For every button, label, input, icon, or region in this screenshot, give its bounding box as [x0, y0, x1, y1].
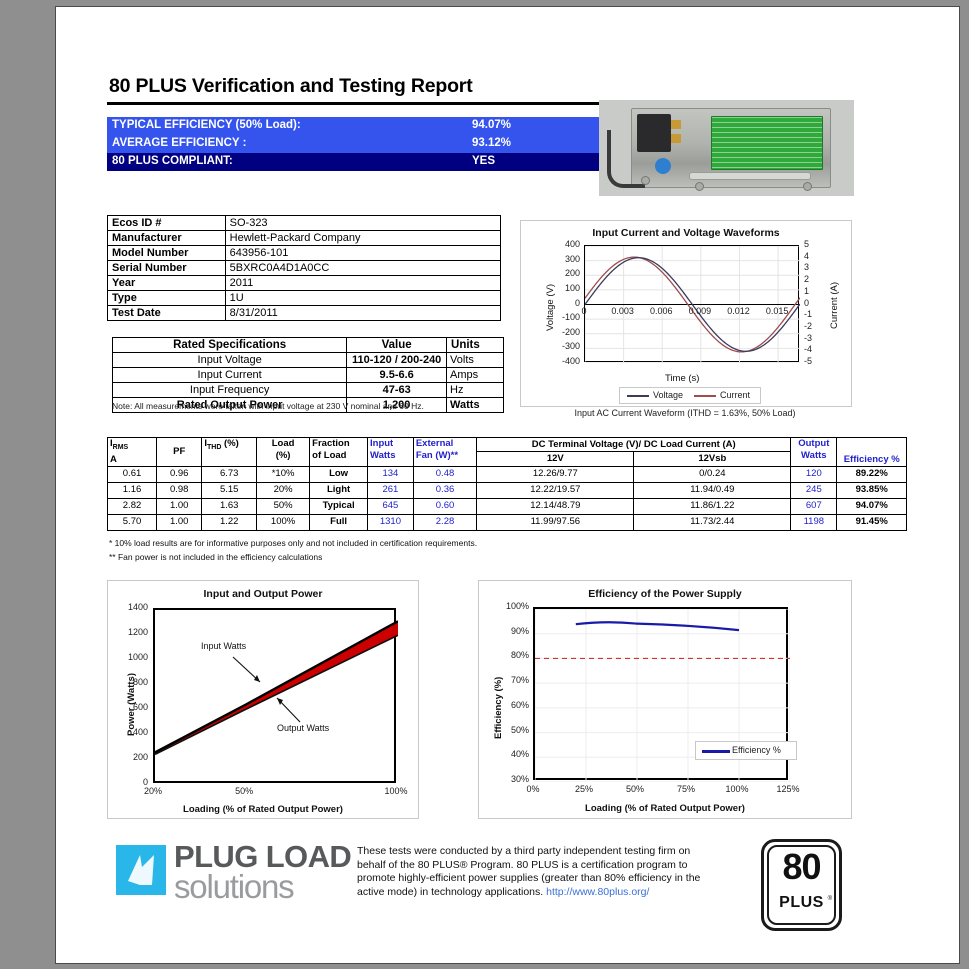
summary-label: 80 PLUS COMPLIANT:: [112, 155, 233, 167]
table-row: Input Current9.5-6.6Amps: [113, 368, 504, 383]
waveform-ytick: 400: [547, 239, 580, 249]
header-12v: 12V: [477, 452, 634, 466]
photo-psu-cable: [607, 130, 645, 188]
table-row: Year2011: [108, 276, 501, 291]
cell-efficiency: 94.07%: [837, 498, 907, 514]
spec-units: Watts: [447, 398, 504, 413]
waveform-xtick: 0.006: [643, 306, 679, 316]
cell-fan: 2.28: [413, 514, 476, 530]
cell-input-watts: 261: [368, 482, 414, 498]
photo-psu-blue-dot: [655, 158, 671, 174]
cell-pf: 0.98: [157, 482, 202, 498]
efficiency-ytick: 80%: [491, 650, 529, 660]
photo-psu-screw: [695, 182, 704, 191]
document-page: 80 PLUS Verification and Testing Report …: [0, 0, 969, 969]
chart-title: Efficiency of the Power Supply: [479, 588, 851, 600]
waveform-xtick: 0: [566, 306, 602, 316]
waveform-chart: Input Current and Voltage Waveforms 4003…: [520, 220, 852, 407]
cell-irms: 5.70: [108, 514, 157, 530]
waveform-ylabel: Voltage (V): [545, 284, 556, 331]
photo-psu-contact-top: [671, 120, 681, 129]
main-note-2: ** Fan power is not included in the effi…: [109, 552, 322, 562]
efficiency-xlabel: Loading (% of Rated Output Power): [479, 803, 851, 814]
cell-irms: 0.61: [108, 466, 157, 482]
info-value: 643956-101: [225, 246, 500, 261]
cell-input-watts: 134: [368, 466, 414, 482]
waveform-y2tick: -2: [804, 321, 820, 331]
summary-row-80plus-compliant: 80 PLUS COMPLIANT: YES: [107, 153, 601, 171]
header-output-1: Output: [798, 438, 829, 449]
header-fraction: Fractionof Load: [310, 438, 368, 467]
power-plot-area: Input Watts Output Watts: [153, 608, 396, 783]
waveform-svg: [585, 246, 800, 363]
spec-units: Hz: [447, 383, 504, 398]
legend-label-voltage: Voltage: [653, 390, 683, 400]
badge-80-text: 80: [764, 848, 839, 886]
table-header-row: Rated Specifications Value Units: [113, 338, 504, 353]
power-ytick: 1400: [114, 602, 148, 612]
cell-fan: 0.48: [413, 466, 476, 482]
cell-efficiency: 91.45%: [837, 514, 907, 530]
waveform-y2tick: -1: [804, 309, 820, 319]
spec-header-name: Rated Specifications: [113, 338, 347, 353]
cell-12vsb: 11.73/2.44: [634, 514, 791, 530]
info-value: Hewlett-Packard Company: [225, 231, 500, 246]
cell-12vsb: 11.86/1.22: [634, 498, 791, 514]
header-ithd-unit: (%): [221, 438, 238, 449]
cell-pf: 0.96: [157, 466, 202, 482]
cell-pf: 1.00: [157, 498, 202, 514]
power-svg: [155, 610, 398, 785]
spec-name: Input Frequency: [113, 383, 347, 398]
power-annotation-output: Output Watts: [277, 723, 329, 733]
info-key: Ecos ID #: [108, 216, 226, 231]
waveform-xtick: 0.003: [605, 306, 641, 316]
waveform-y2tick: 4: [804, 251, 820, 261]
spec-name: Input Current: [113, 368, 347, 383]
efficiency-xtick: 125%: [768, 784, 808, 794]
header-fraction-1: Fraction: [312, 438, 349, 449]
cell-irms: 1.16: [108, 482, 157, 498]
cell-input-watts: 1310: [368, 514, 414, 530]
table-row: Input Frequency47-63Hz: [113, 383, 504, 398]
info-value: 1U: [225, 291, 500, 306]
power-ylabel: Power (Watts): [126, 673, 137, 736]
power-ytick: 1200: [114, 627, 148, 637]
efficiency-ytick: 30%: [491, 774, 529, 784]
chart-title: Input and Output Power: [108, 588, 418, 600]
waveform-legend: Voltage Current: [619, 387, 761, 404]
cell-load: 100%: [257, 514, 310, 530]
efficiency-ytick: 100%: [491, 601, 529, 611]
cell-fan: 0.60: [413, 498, 476, 514]
cell-12vsb: 0/0.24: [634, 466, 791, 482]
waveform-ytick: -400: [547, 356, 580, 366]
header-irms-unit: A: [110, 454, 117, 465]
info-key: Manufacturer: [108, 231, 226, 246]
waveform-plot-area: [584, 245, 799, 362]
legend-label-efficiency: Efficiency %: [732, 745, 781, 755]
power-chart: Input and Output Power Input Watts Outpu…: [107, 580, 419, 819]
efficiency-legend: Efficiency %: [695, 741, 797, 760]
photo-psu-screw: [641, 176, 650, 185]
header-load-1: Load: [272, 438, 295, 449]
summary-row-average-efficiency: AVERAGE EFFICIENCY : 93.12%: [107, 135, 601, 153]
summary-panel: TYPICAL EFFICIENCY (50% Load): 94.07% AV…: [107, 117, 601, 171]
efficiency-xtick: 50%: [615, 784, 655, 794]
table-row: 5.70 1.00 1.22 100% Full 1310 2.28 11.99…: [108, 514, 907, 530]
legend-swatch-efficiency: [702, 750, 730, 753]
cell-efficiency: 89.22%: [837, 466, 907, 482]
summary-value: 93.12%: [472, 137, 511, 149]
table-row: 0.61 0.96 6.73 *10% Low 134 0.48 12.26/9…: [108, 466, 907, 482]
cell-ithd: 1.63: [202, 498, 257, 514]
table-row: Ecos ID #SO-323: [108, 216, 501, 231]
title-underline: [107, 102, 600, 105]
info-value: 8/31/2011: [225, 306, 500, 321]
power-annotation-arrows: [233, 657, 300, 722]
header-output-2: Watts: [801, 450, 827, 461]
header-12vsb: 12Vsb: [634, 452, 791, 466]
cell-ithd: 6.73: [202, 466, 257, 482]
cell-12v: 12.22/19.57: [477, 482, 634, 498]
photo-psu-vent: [689, 172, 811, 180]
info-key: Test Date: [108, 306, 226, 321]
spec-header-value: Value: [347, 338, 447, 353]
header-pf: PF: [157, 438, 202, 467]
brand-name-line1: PLUG LOAD: [174, 843, 351, 871]
cell-fan: 0.36: [413, 482, 476, 498]
power-ytick: 1000: [114, 652, 148, 662]
waveform-ytick: -300: [547, 341, 580, 351]
power-ytick: 200: [114, 752, 148, 762]
waveform-y2label: Current (A): [829, 282, 840, 329]
cell-output-watts: 607: [791, 498, 837, 514]
waveform-xtick: 0.012: [720, 306, 756, 316]
plug-load-solutions-logo: [116, 845, 166, 903]
cell-irms: 2.82: [108, 498, 157, 514]
cell-input-watts: 645: [368, 498, 414, 514]
waveform-y2tick: -4: [804, 344, 820, 354]
cell-12v: 12.26/9.77: [477, 466, 634, 482]
cell-load: 20%: [257, 482, 310, 498]
badge-trademark: ®: [828, 896, 832, 902]
cell-output-watts: 1198: [791, 514, 837, 530]
table-row: Serial Number5BXRC0A4D1A0CC: [108, 261, 501, 276]
header-external-2: Fan (W)**: [416, 450, 458, 461]
80plus-badge: 80 PLUS ®: [761, 839, 842, 931]
info-key: Model Number: [108, 246, 226, 261]
efficiency-ytick: 90%: [491, 626, 529, 636]
efficiency-ylabel: Efficiency (%): [493, 677, 504, 739]
legend-label-current: Current: [720, 390, 750, 400]
cell-pf: 1.00: [157, 514, 202, 530]
power-xtick: 20%: [133, 786, 173, 796]
info-key: Serial Number: [108, 261, 226, 276]
waveform-y2tick: 5: [804, 239, 820, 249]
spec-note: Note: All measurements were taken with i…: [112, 401, 424, 411]
power-xtick: 50%: [224, 786, 264, 796]
power-supply-photo: [599, 100, 854, 196]
power-xlabel: Loading (% of Rated Output Power): [108, 804, 418, 815]
header-load-2: (%): [276, 450, 291, 461]
header-external-fan: ExternalFan (W)**: [413, 438, 476, 467]
waveform-caption: Input AC Current Waveform (ITHD = 1.63%,…: [520, 408, 850, 418]
table-row: 2.82 1.00 1.63 50% Typical 645 0.60 12.1…: [108, 498, 907, 514]
header-fraction-2: of Load: [312, 450, 346, 461]
table-row: ManufacturerHewlett-Packard Company: [108, 231, 501, 246]
efficiency-ytick: 40%: [491, 749, 529, 759]
efficiency-xtick: 100%: [717, 784, 757, 794]
waveform-xtick: 0.015: [759, 306, 795, 316]
header-load: Load(%): [257, 438, 310, 467]
cell-load: *10%: [257, 466, 310, 482]
waveform-ytick: 200: [547, 268, 580, 278]
header-ithd-sub: THD: [207, 444, 221, 451]
legend-swatch-voltage: [627, 395, 649, 397]
waveform-xlabel: Time (s): [665, 373, 699, 384]
waveform-y2tick: 2: [804, 274, 820, 284]
waveform-ytick: 300: [547, 254, 580, 264]
header-irms-sub: RMS: [113, 444, 129, 451]
waveform-y2tick: -5: [804, 356, 820, 366]
efficiency-xtick: 0%: [513, 784, 553, 794]
header-input-1: Input: [370, 438, 393, 449]
cell-output-watts: 245: [791, 482, 837, 498]
summary-label: AVERAGE EFFICIENCY :: [112, 137, 246, 149]
power-annotation-input: Input Watts: [201, 641, 246, 651]
power-xtick: 100%: [376, 786, 416, 796]
cell-load: 50%: [257, 498, 310, 514]
spec-units: Amps: [447, 368, 504, 383]
page-title: 80 PLUS Verification and Testing Report: [109, 75, 473, 98]
efficiency-chart: Efficiency of the Power Supply 30%40%50%…: [478, 580, 852, 819]
waveform-y2tick: 0: [804, 298, 820, 308]
cell-12v: 11.99/97.56: [477, 514, 634, 530]
table-row: 1.16 0.98 5.15 20% Light 261 0.36 12.22/…: [108, 482, 907, 498]
unit-info-table: Ecos ID #SO-323 ManufacturerHewlett-Pack…: [107, 215, 501, 321]
table-header-row: IRMS A PF ITHD (%) Load(%) Fractionof Lo…: [108, 438, 907, 452]
table-row: Input Voltage110-120 / 200-240Volts: [113, 353, 504, 368]
spec-header-units: Units: [447, 338, 504, 353]
cell-12v: 12.14/48.79: [477, 498, 634, 514]
header-irms: IRMS A: [108, 438, 157, 467]
cell-fraction: Light: [310, 482, 368, 498]
report-sheet: 80 PLUS Verification and Testing Report …: [55, 6, 960, 964]
logo-zigzag-icon: [126, 851, 156, 889]
chart-title: Input Current and Voltage Waveforms: [521, 227, 851, 239]
table-row: Test Date8/31/2011: [108, 306, 501, 321]
cell-fraction: Typical: [310, 498, 368, 514]
cell-fraction: Full: [310, 514, 368, 530]
header-input-2: Watts: [370, 450, 396, 461]
waveform-y2tick: -3: [804, 333, 820, 343]
cell-ithd: 1.22: [202, 514, 257, 530]
legend-swatch-current: [694, 395, 716, 397]
info-value: 2011: [225, 276, 500, 291]
spec-value: 9.5-6.6: [347, 368, 447, 383]
header-dc-group: DC Terminal Voltage (V)/ DC Load Current…: [477, 438, 791, 452]
photo-psu-screw: [803, 182, 812, 191]
efficiency-xtick: 25%: [564, 784, 604, 794]
summary-value: YES: [472, 155, 495, 167]
table-row: Model Number643956-101: [108, 246, 501, 261]
info-key: Year: [108, 276, 226, 291]
summary-value: 94.07%: [472, 119, 511, 131]
cell-efficiency: 93.85%: [837, 482, 907, 498]
info-value: 5BXRC0A4D1A0CC: [225, 261, 500, 276]
spec-name: Input Voltage: [113, 353, 347, 368]
cell-fraction: Low: [310, 466, 368, 482]
photo-psu-label: [711, 116, 823, 170]
header-external-1: External: [416, 438, 454, 449]
brand-name-line2: solutions: [174, 871, 293, 902]
header-output-watts: OutputWatts: [791, 438, 837, 467]
header-ithd: ITHD (%): [202, 438, 257, 467]
footer-description: These tests were conducted by a third pa…: [357, 845, 702, 899]
main-note-1: * 10% load results are for informative p…: [109, 538, 477, 548]
waveform-xtick: 0.009: [682, 306, 718, 316]
waveform-y2tick: 1: [804, 286, 820, 296]
spec-value: 110-120 / 200-240: [347, 353, 447, 368]
info-key: Type: [108, 291, 226, 306]
table-row: Type1U: [108, 291, 501, 306]
efficiency-xtick: 75%: [666, 784, 706, 794]
footer-link[interactable]: http://www.80plus.org/: [546, 886, 649, 898]
header-input-watts: InputWatts: [368, 438, 414, 467]
cell-output-watts: 120: [791, 466, 837, 482]
cell-ithd: 5.15: [202, 482, 257, 498]
measurement-table: IRMS A PF ITHD (%) Load(%) Fractionof Lo…: [107, 437, 907, 531]
info-value: SO-323: [225, 216, 500, 231]
summary-label: TYPICAL EFFICIENCY (50% Load):: [112, 119, 301, 131]
spec-units: Volts: [447, 353, 504, 368]
spec-value: 47-63: [347, 383, 447, 398]
report-inner: 80 PLUS Verification and Testing Report …: [56, 7, 961, 965]
summary-row-typical-efficiency: TYPICAL EFFICIENCY (50% Load): 94.07%: [107, 117, 601, 135]
cell-12vsb: 11.94/0.49: [634, 482, 791, 498]
waveform-y2tick: 3: [804, 262, 820, 272]
header-efficiency: Efficiency %: [837, 438, 907, 467]
photo-psu-contact-bottom: [671, 134, 681, 143]
